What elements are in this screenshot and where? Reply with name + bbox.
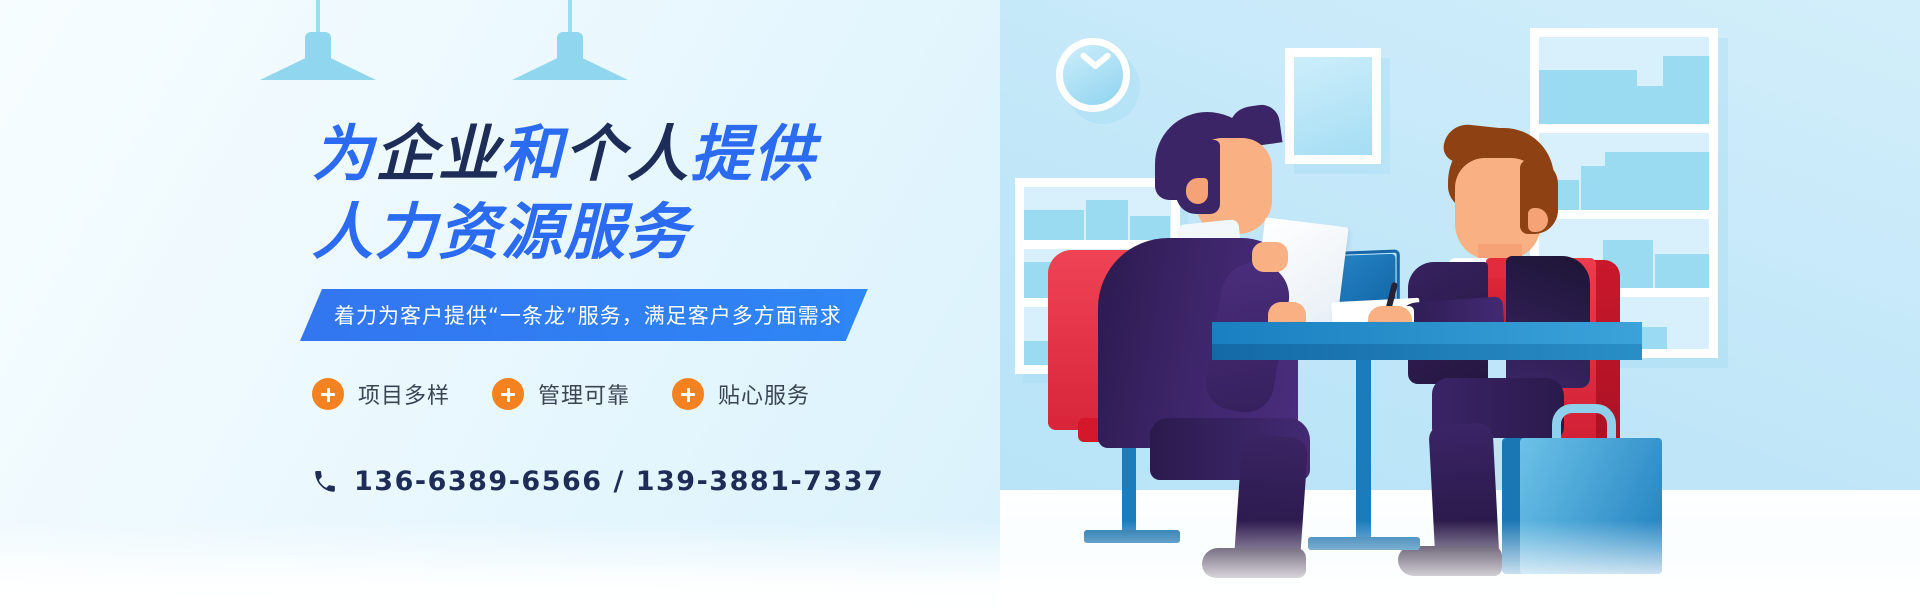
phone-icon [312,469,338,495]
desk-surface [1212,322,1642,344]
wall-clock-icon [1056,38,1130,112]
book-block [1086,200,1128,240]
feature-item-3[interactable]: 贴心服务 [672,378,810,410]
feature-label-2: 管理可靠 [538,378,630,410]
book-block [1539,70,1637,124]
hr-services-banner: 为企业和个人提供 人力资源服务 着力为客户提供“一条龙”服务，满足客户多方面需求… [0,0,1920,610]
shelf-books [1539,133,1709,210]
shelf-row [1539,37,1709,133]
headline-line-1: 为企业和个人提供 [312,118,952,192]
headline-seg-4: 个人 [564,119,690,190]
headline-seg-1: 为 [312,119,375,190]
feature-label-1: 项目多样 [358,378,450,410]
shelf-row [1539,133,1709,219]
subtitle-text: 着力为客户提供“一条龙”服务，满足客户多方面需求 [334,300,842,330]
person-left-hand-upper [1252,242,1288,272]
book-block [1663,56,1709,124]
feature-item-2[interactable]: 管理可靠 [492,378,630,410]
headline-seg-2: 企业 [375,119,501,190]
book-block [1581,166,1605,210]
headline-line-2: 人力资源服务 [312,196,952,270]
picture-frame [1285,48,1381,164]
contact-row[interactable]: 136-6389-6566 / 139-3881-7337 [312,466,884,497]
plus-icon [312,378,344,410]
book-block [1605,152,1709,210]
book-block [1024,210,1084,240]
shelf-books [1024,187,1171,240]
desk-apron [1212,344,1642,360]
book-block [1655,254,1709,288]
person-left-ear [1186,178,1208,204]
plus-icon [492,378,524,410]
desk-leg [1356,360,1371,545]
headline-seg-6: 人力资源服务 [312,197,690,268]
headline-seg-5: 提供 [690,119,816,190]
feature-label-3: 贴心服务 [718,378,810,410]
phone-number: 136-6389-6566 / 139-3881-7337 [354,466,884,497]
feature-item-1[interactable]: 项目多样 [312,378,450,410]
shelf-books [1539,37,1709,124]
headline: 为企业和个人提供 人力资源服务 [312,118,952,270]
feature-list: 项目多样 管理可靠 贴心服务 [312,378,810,410]
book-block [1130,216,1170,240]
subtitle-ribbon: 着力为客户提供“一条龙”服务，满足客户多方面需求 [300,289,868,341]
book-block [1637,86,1663,124]
headline-seg-3: 和 [501,119,564,190]
banner-content: 为企业和个人提供 人力资源服务 着力为客户提供“一条龙”服务，满足客户多方面需求… [0,0,1000,610]
plus-icon [672,378,704,410]
